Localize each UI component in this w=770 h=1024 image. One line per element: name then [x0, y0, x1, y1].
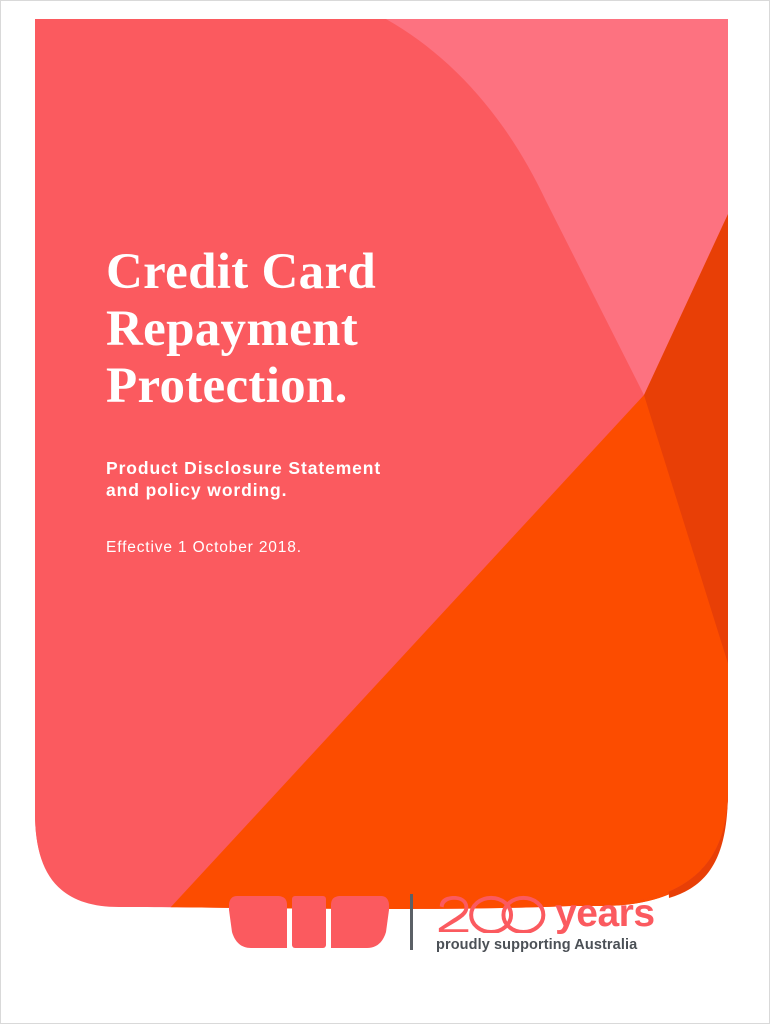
- anniversary-number-200-icon: [436, 895, 548, 933]
- cover-text-block: Credit Card Repayment Protection. Produc…: [106, 244, 576, 558]
- footer-logo-area: years proudly supporting Australia: [1, 881, 770, 971]
- brand-lockup: years proudly supporting Australia: [229, 889, 655, 954]
- anniversary-main: years: [436, 891, 655, 933]
- anniversary-lockup: years proudly supporting Australia: [436, 889, 655, 954]
- lockup-divider: [410, 894, 413, 950]
- page-title: Credit Card Repayment Protection.: [106, 244, 576, 415]
- anniversary-tagline: proudly supporting Australia: [436, 936, 655, 954]
- effective-date: Effective 1 October 2018.: [106, 538, 576, 558]
- anniversary-word-years: years: [555, 895, 654, 933]
- westpac-w-logo-icon: [229, 896, 389, 948]
- page-subtitle: Product Disclosure Statement and policy …: [106, 457, 576, 501]
- cover-page: Credit Card Repayment Protection. Produc…: [0, 0, 770, 1024]
